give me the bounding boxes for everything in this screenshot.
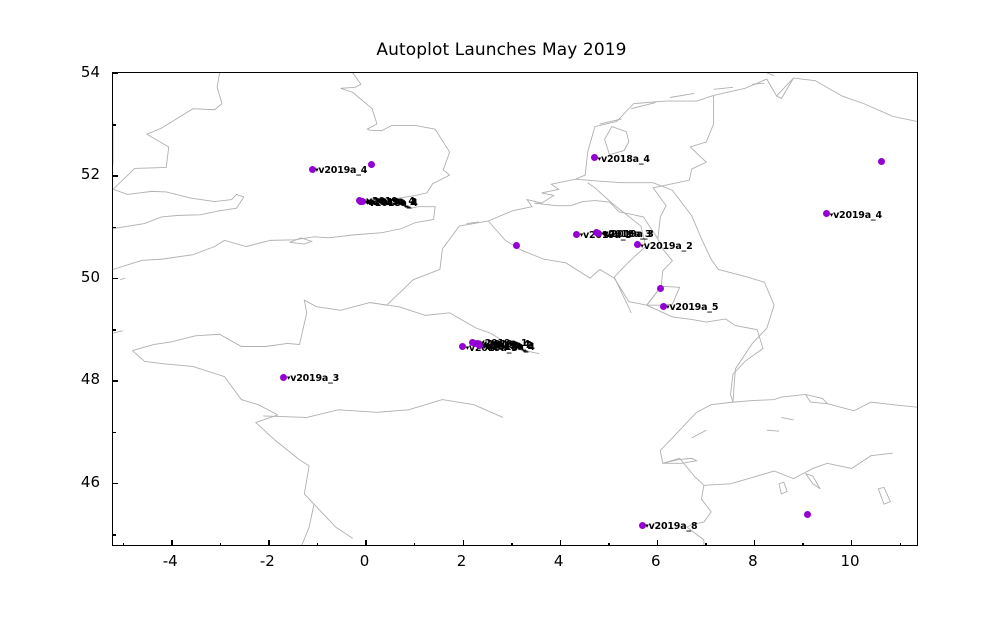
scatter-point-label: v2019a_8 — [645, 521, 697, 532]
y-axis-tick — [112, 380, 118, 381]
x-axis-tick — [365, 540, 366, 546]
y-axis-minor-tick — [112, 329, 116, 330]
x-axis-tick-label: -2 — [260, 552, 275, 570]
y-axis-tick-label-text: 54 — [81, 63, 100, 81]
scatter-point-label: v2019a_2 — [640, 241, 692, 252]
scatter-point-label: v2019a_3 — [287, 373, 339, 384]
scatter-point[interactable] — [368, 161, 375, 168]
x-axis-tick — [754, 540, 755, 546]
x-axis-minor-tick — [705, 543, 706, 547]
y-axis-tick — [112, 483, 118, 484]
x-axis-tick-label: 0 — [360, 552, 370, 570]
scatter-point[interactable] — [657, 285, 664, 292]
y-axis-minor-tick — [112, 227, 116, 228]
map-axes: v2019a_4v2019a_4v2019a_1v2019a_4v2018a_4… — [112, 72, 918, 546]
x-axis-minor-tick — [123, 543, 124, 547]
x-axis-minor-tick — [317, 543, 318, 547]
x-axis-minor-tick — [414, 543, 415, 547]
x-axis-tick — [171, 540, 172, 546]
scatter-point[interactable] — [878, 158, 885, 165]
scatter-point[interactable] — [804, 511, 811, 518]
scatter-point-label: v2018a_4 — [598, 154, 650, 165]
scatter-points-layer: v2019a_4v2019a_4v2019a_1v2019a_4v2018a_4… — [113, 73, 917, 545]
y-axis-tick — [112, 278, 118, 279]
y-axis-tick-label-text: 48 — [81, 370, 100, 388]
x-axis-minor-tick — [900, 543, 901, 547]
y-axis-tick-label-text: 46 — [81, 473, 100, 491]
x-axis-minor-tick — [220, 543, 221, 547]
figure-canvas: Autoplot Launches May 2019 v2019a_4v2019… — [0, 0, 1003, 633]
scatter-point[interactable] — [513, 242, 520, 249]
x-axis-tick-label: 2 — [457, 552, 467, 570]
chart-title: Autoplot Launches May 2019 — [0, 40, 1003, 60]
scatter-point-label: v2019a_4 — [830, 210, 882, 221]
y-axis-tick-label-text: 50 — [81, 268, 100, 286]
x-axis-minor-tick — [608, 543, 609, 547]
x-axis-tick-label: 10 — [840, 552, 859, 570]
scatter-point-label: v2019a_4 — [315, 165, 367, 176]
y-axis-tick-label-text: 52 — [81, 165, 100, 183]
x-axis-tick-label: 6 — [651, 552, 661, 570]
y-axis-minor-tick — [112, 534, 116, 535]
x-axis-tick — [560, 540, 561, 546]
scatter-point-label: v2018a_4 — [483, 342, 535, 353]
scatter-point-label: v2019a_5 — [666, 302, 718, 313]
x-axis-tick — [657, 540, 658, 546]
x-axis-tick — [463, 540, 464, 546]
y-axis-tick — [112, 175, 118, 176]
y-axis-tick — [112, 73, 118, 74]
x-axis-minor-tick — [802, 543, 803, 547]
x-axis-tick-label: 4 — [554, 552, 564, 570]
scatter-point-label: v2018a_4 — [366, 198, 418, 209]
scatter-point-label: v2019a_3 — [602, 229, 654, 240]
y-axis-minor-tick — [112, 432, 116, 433]
x-axis-tick-label: -4 — [163, 552, 178, 570]
y-axis-minor-tick — [112, 124, 116, 125]
x-axis-tick-label: 8 — [748, 552, 758, 570]
x-axis-tick — [268, 540, 269, 546]
x-axis-minor-tick — [511, 543, 512, 547]
x-axis-tick — [851, 540, 852, 546]
